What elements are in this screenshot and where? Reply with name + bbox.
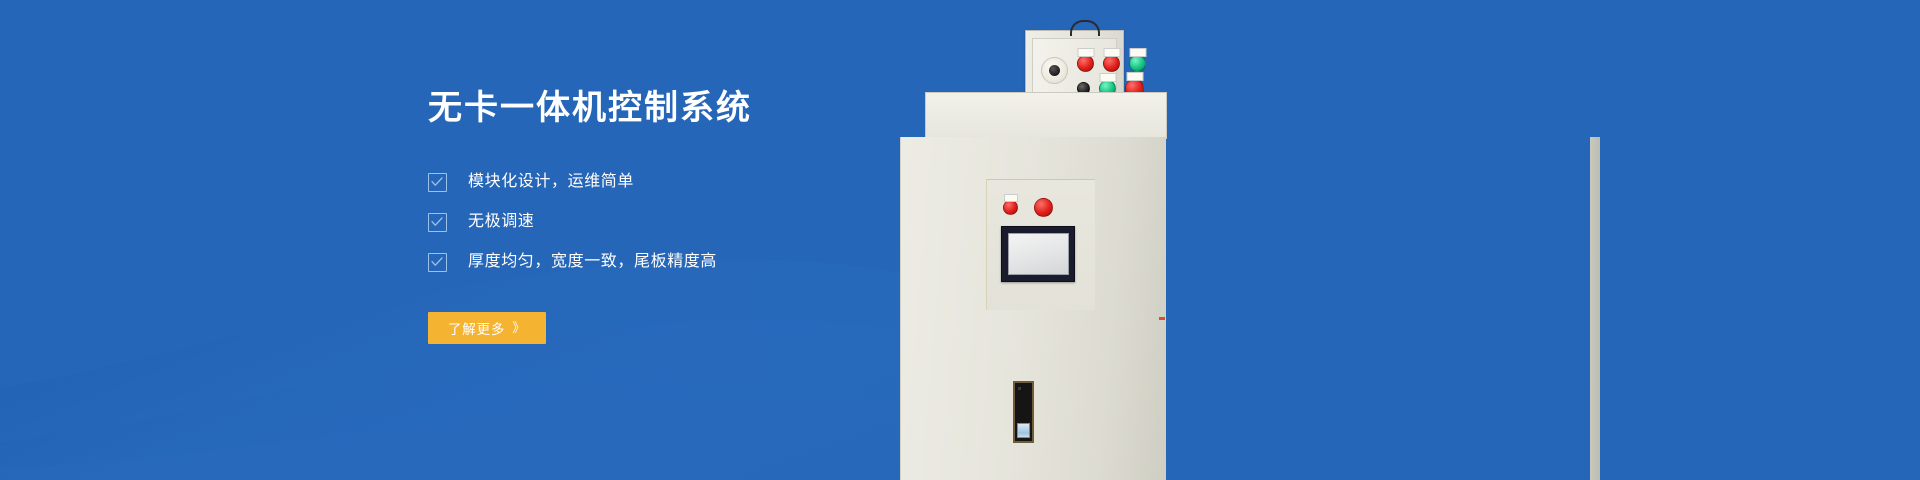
lamp-label-tag: [1077, 48, 1094, 57]
cabinet-side-marker: [1159, 317, 1165, 320]
feature-label: 无极调速: [468, 214, 534, 230]
checkbox-check-icon: [428, 173, 447, 192]
slot-display: [1017, 423, 1030, 438]
learn-more-button[interactable]: 了解更多 》: [428, 312, 546, 344]
lamp-label-tag: [1129, 48, 1146, 57]
cabinet-recessed-panel: [986, 179, 1095, 310]
control-box-faceplate: [1032, 38, 1117, 93]
push-button-red-icon[interactable]: [1003, 200, 1018, 215]
list-item: 无极调速: [428, 213, 898, 232]
learn-more-label: 了解更多: [448, 318, 505, 338]
cabinet-top-plate: [925, 92, 1167, 139]
hero-banner: 无卡一体机控制系统 模块化设计，运维简单 无极调速: [0, 0, 1920, 480]
hmi-touchscreen-icon[interactable]: [1001, 226, 1075, 282]
slot-indicator-dot: [1018, 387, 1021, 390]
indicator-lamp-red-icon[interactable]: [1103, 55, 1120, 72]
cabinet-right-edge: [1590, 137, 1600, 480]
card-reader-slot-icon[interactable]: [1013, 381, 1034, 443]
checkbox-check-icon: [428, 253, 447, 272]
lamp-label-tag: [1126, 72, 1143, 81]
lamp-label-tag: [1103, 48, 1120, 57]
cabinet-body: [900, 137, 1166, 480]
feature-label: 模块化设计，运维简单: [468, 174, 634, 190]
banner-content: 无卡一体机控制系统 模块化设计，运维简单 无极调速: [428, 88, 898, 344]
list-item: 模块化设计，运维简单: [428, 173, 898, 192]
indicator-lamp-red-icon[interactable]: [1077, 55, 1094, 72]
indicator-lamp-green-icon[interactable]: [1129, 55, 1146, 72]
list-item: 厚度均匀，宽度一致，尾板精度高: [428, 253, 898, 272]
feature-label: 厚度均匀，宽度一致，尾板精度高: [468, 254, 717, 270]
button-label-tag: [1004, 194, 1018, 202]
control-box: [1025, 30, 1124, 100]
feature-list: 模块化设计，运维简单 无极调速 厚度均匀，宽度一致，尾板精度高: [428, 173, 898, 272]
control-box-lamp-row-top: [1077, 55, 1146, 72]
rotary-selector-knob[interactable]: [1041, 57, 1068, 84]
lamp-label-tag: [1099, 73, 1116, 82]
cable-loop-icon: [1070, 20, 1100, 36]
page-title: 无卡一体机控制系统: [428, 88, 898, 129]
hmi-screen[interactable]: [1008, 233, 1069, 275]
control-cabinet-photo: [900, 0, 1600, 480]
chevron-right-double-icon: 》: [512, 321, 526, 334]
emergency-stop-red-icon[interactable]: [1034, 198, 1053, 217]
checkbox-check-icon: [428, 213, 447, 232]
